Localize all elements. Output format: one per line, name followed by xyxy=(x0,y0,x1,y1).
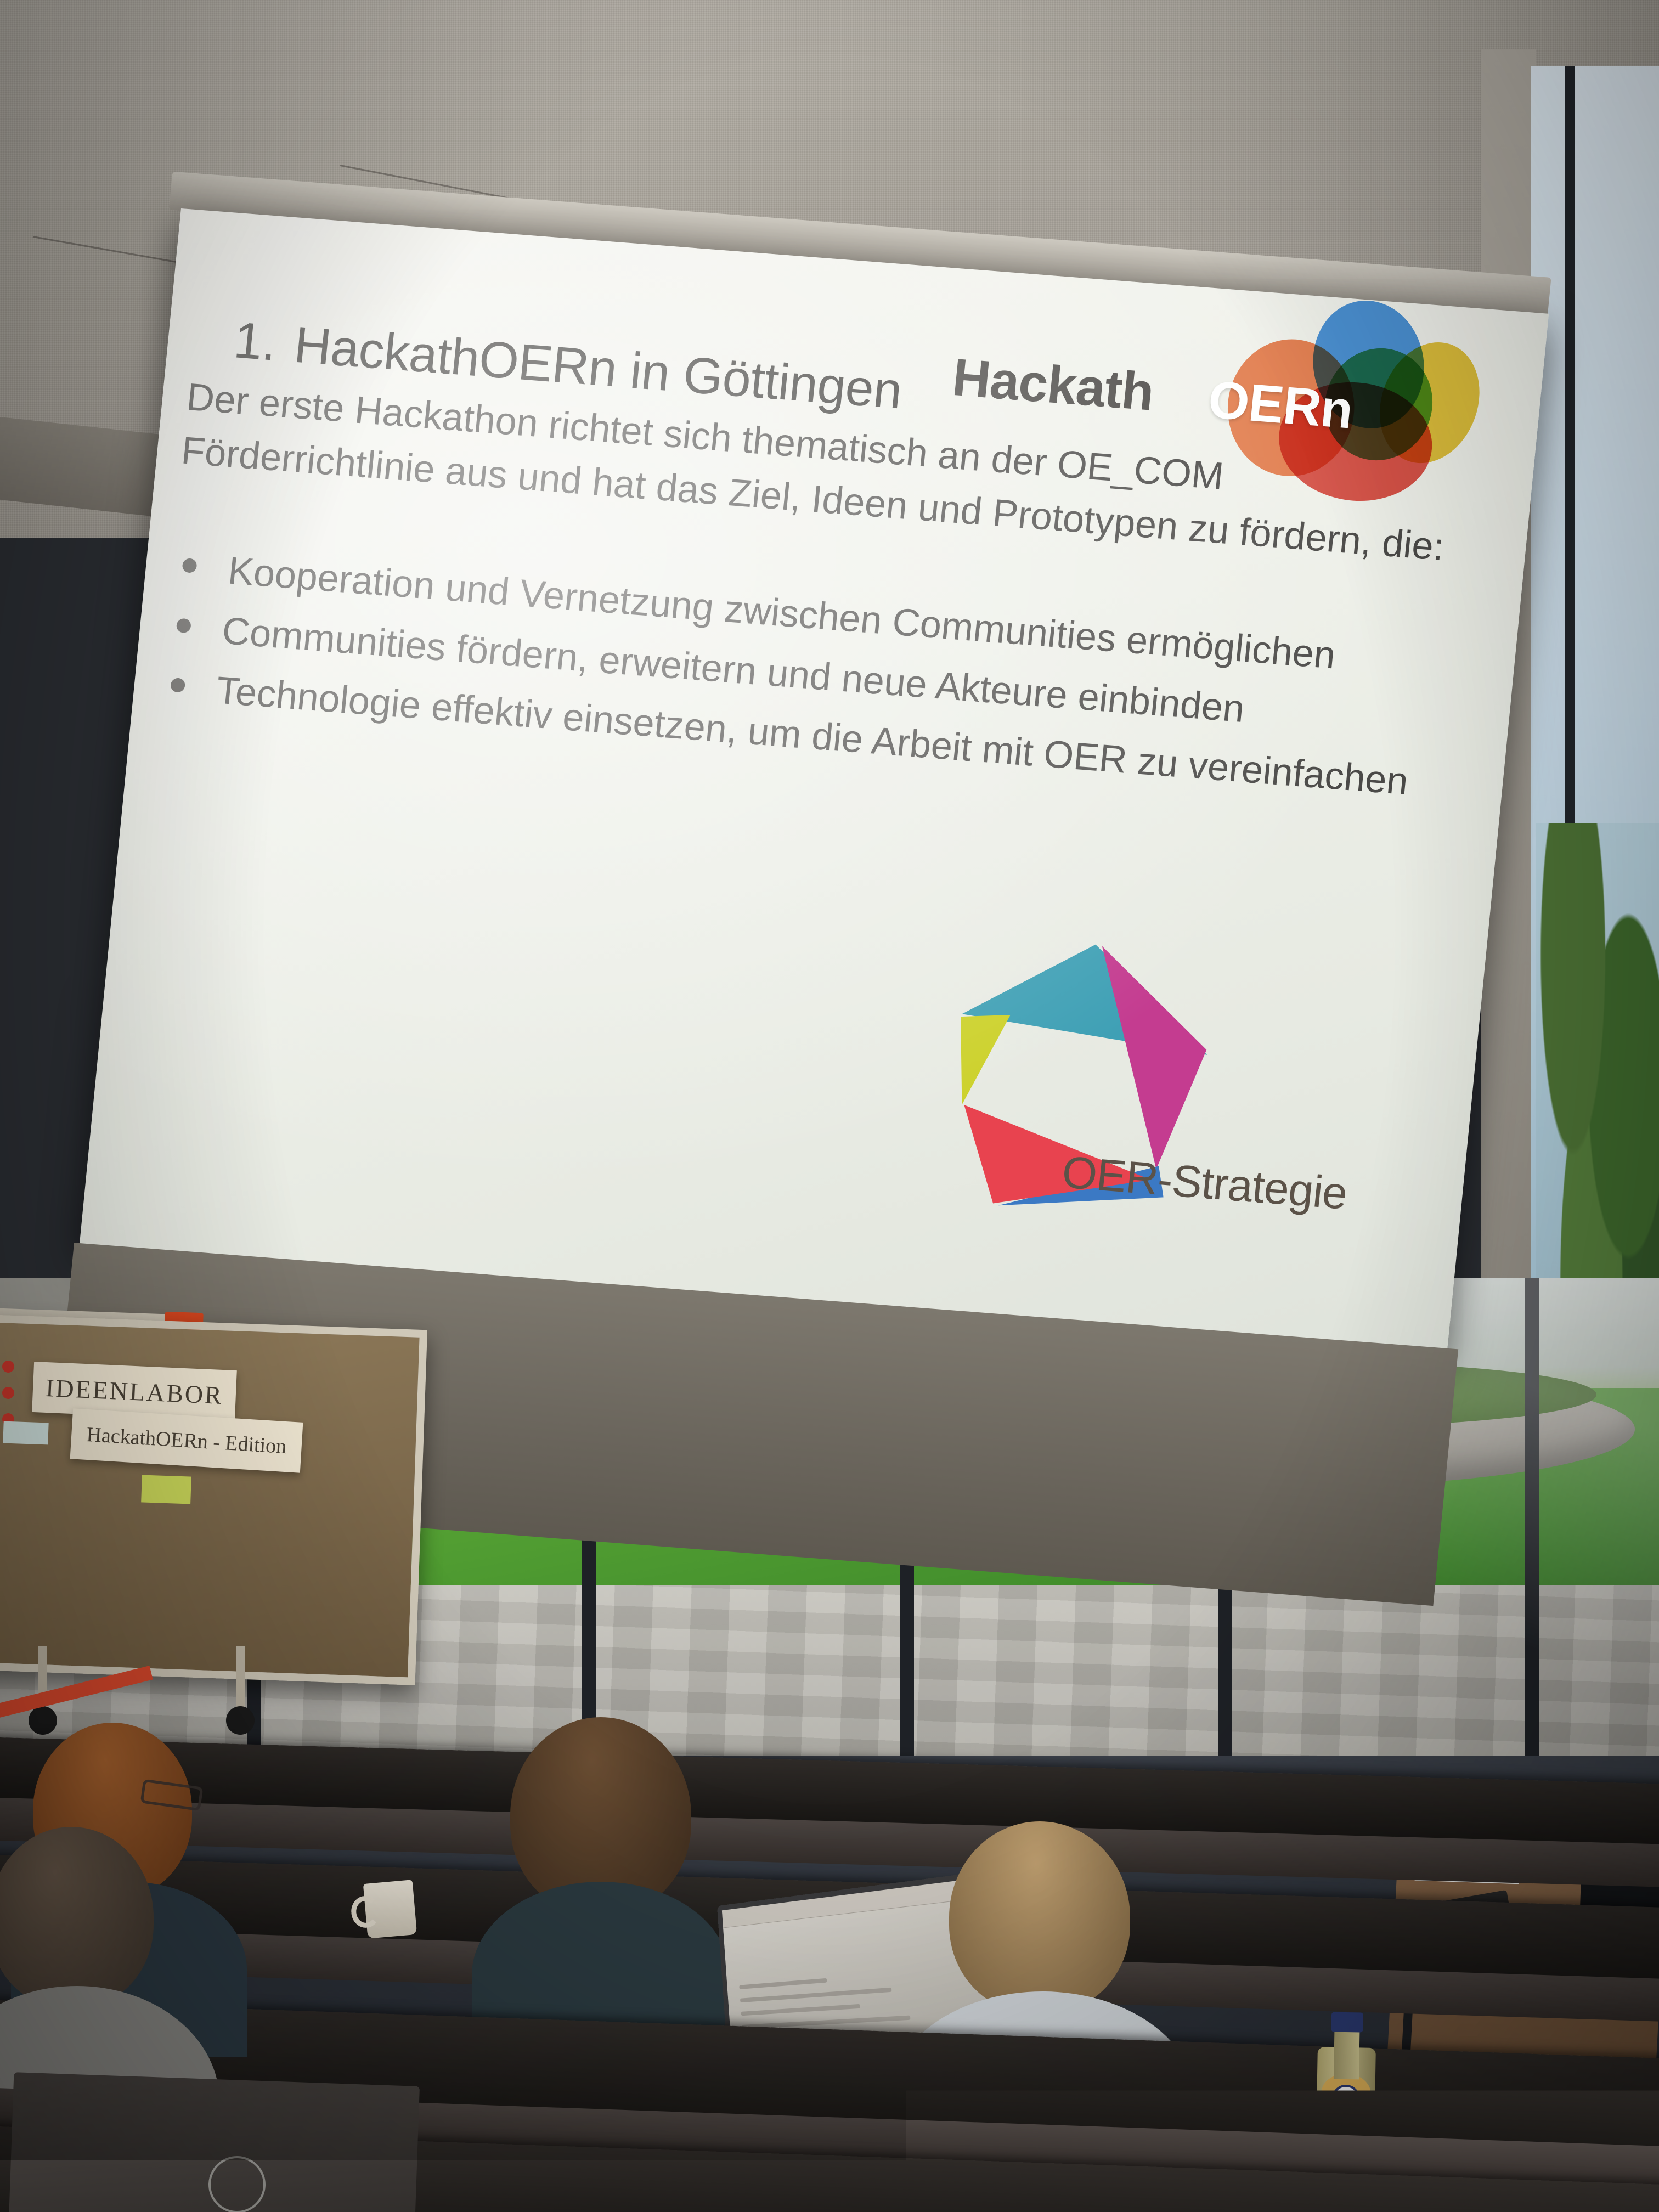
club-mate-bottle xyxy=(1315,2002,1377,2212)
bottle-cap xyxy=(1331,2012,1363,2033)
bullet-dot-icon xyxy=(182,558,197,573)
screen-surface: Hackath OERn 1.HackathOERn in Göttingen xyxy=(80,208,1549,1351)
bullet-dot-icon xyxy=(176,618,191,633)
audience-member-head xyxy=(0,1827,154,2008)
lecture-hall-photo: Hackath OERn 1.HackathOERn in Göttingen xyxy=(0,0,1659,2212)
laptop-ui-line xyxy=(739,1978,827,1989)
pinboard-caster-wheel xyxy=(226,1706,255,1735)
bullet-dot-icon xyxy=(170,678,185,693)
audience-member-head xyxy=(949,1821,1130,2013)
pinboard-caster-wheel xyxy=(29,1706,57,1735)
pushpin-icon xyxy=(2,1387,14,1399)
bottle-neck xyxy=(1334,2024,1360,2080)
presentation-slide: Hackath OERn 1.HackathOERn in Göttingen xyxy=(80,208,1549,1351)
laptop-ui-line xyxy=(740,1988,891,2002)
laptop-ui-line xyxy=(741,2004,860,2016)
pinboard-small-card xyxy=(3,1421,48,1445)
slide-title-number: 1. xyxy=(232,311,297,374)
hackathoern-logo-wordmark: Hackath xyxy=(950,347,1156,423)
projection-screen: Hackath OERn 1.HackathOERn in Göttingen xyxy=(64,208,1560,1505)
window-mullion xyxy=(1525,1278,1539,1772)
pushpin-icon xyxy=(2,1361,14,1373)
oer-strategie-logo: OER-Strategie xyxy=(930,923,1376,1261)
pinboard-leg xyxy=(236,1646,245,1712)
slide-bullet-list: Kooperation und Vernetzung zwischen Comm… xyxy=(161,538,1481,818)
coffee-mug xyxy=(363,1880,417,1938)
hackathoern-logo-oern: OERn xyxy=(1206,370,1356,441)
pinboard-sticky-note xyxy=(141,1475,191,1504)
